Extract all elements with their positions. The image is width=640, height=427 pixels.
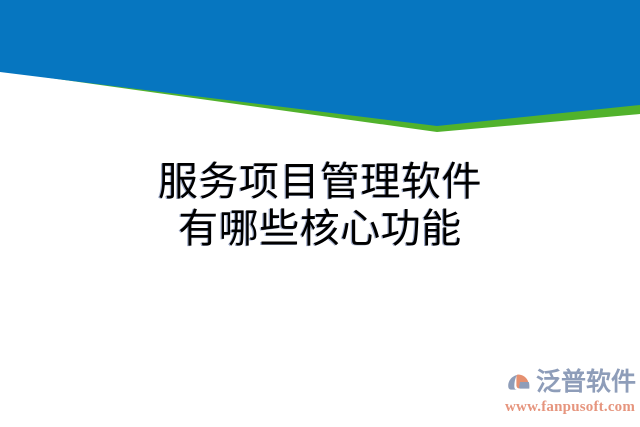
slide-canvas: 服务项目管理软件 有哪些核心功能 泛普软件 www.fanpusoft.com	[0, 0, 640, 427]
logo-mark-slate-crescent	[508, 375, 517, 390]
banner-blue-shape	[0, 0, 640, 126]
brand-url: www.fanpusoft.com	[500, 399, 640, 416]
page-title-line-1: 服务项目管理软件	[0, 158, 640, 205]
fanpu-logo-mark	[504, 367, 534, 397]
page-title: 服务项目管理软件 有哪些核心功能	[0, 158, 640, 252]
banner-green-stripe	[0, 63, 640, 132]
page-title-line-2: 有哪些核心功能	[0, 205, 640, 252]
logo-mark-slate-notch	[519, 382, 529, 389]
brand-logo-row: 泛普软件	[500, 365, 640, 399]
brand-wordmark: 泛普软件	[536, 367, 636, 397]
brand-logo: 泛普软件 www.fanpusoft.com	[500, 365, 640, 420]
decorative-chevron-banner	[0, 0, 640, 150]
